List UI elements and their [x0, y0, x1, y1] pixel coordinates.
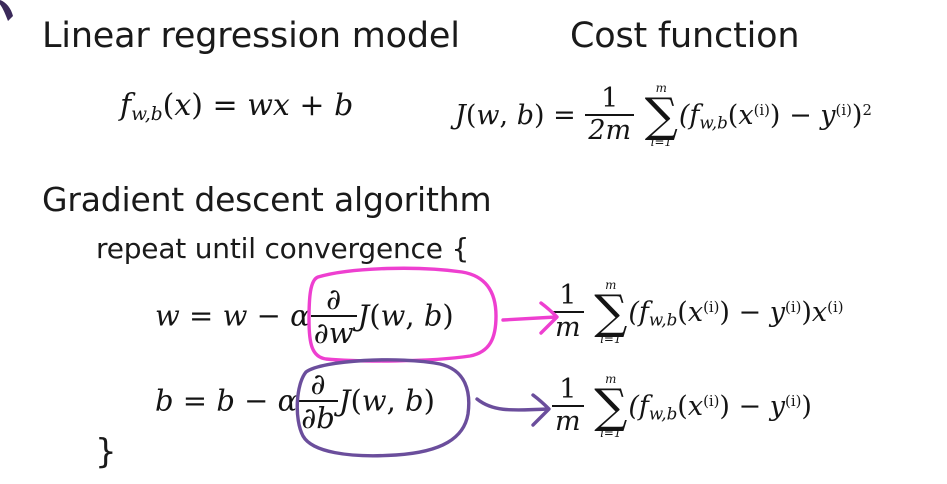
update-w-paren-open: (: [369, 298, 380, 332]
cost-sum-glyph: ∑: [645, 95, 678, 137]
cost-paren-close: ): [534, 100, 545, 131]
update-w-minus: −: [257, 298, 281, 332]
update-w-rhs-summation: m ∑ i=1: [594, 280, 627, 345]
cost-f: f: [689, 100, 699, 131]
cost-f-subscript: w,b: [699, 113, 727, 133]
cost-minus: −: [789, 100, 812, 131]
formula-cost: J(w, b) = 1 2m m ∑ i=1 (fw,b(x(i)) − y(i…: [455, 84, 872, 149]
update-b-b: b: [216, 383, 235, 417]
model-w: w: [247, 88, 273, 123]
cost-b: b: [517, 100, 534, 131]
update-w-jw: w: [381, 298, 406, 332]
update-w-rhs-inner-paren-open: (: [677, 297, 688, 328]
update-b-alpha: α: [278, 383, 298, 417]
update-b-equals: =: [183, 383, 207, 417]
corner-arc-mark: [0, 0, 13, 21]
model-paren-close: ): [191, 88, 203, 123]
update-b-rhs-y: y: [770, 391, 785, 422]
cost-power: 2: [862, 101, 871, 119]
cost-paren-open: (: [466, 100, 477, 131]
cost-x: x: [738, 100, 753, 131]
update-b-jw: w: [362, 383, 387, 417]
slide-canvas: Linear regression model Cost function Gr…: [0, 0, 947, 484]
purple-arrow: [477, 399, 548, 410]
update-b-J: J: [339, 383, 351, 417]
update-w-rhs-x: x: [688, 297, 703, 328]
update-w-w: w: [223, 298, 248, 332]
formula-update-w-left: w = w − α ∂ ∂w J(w, b): [155, 285, 454, 350]
update-b-paren-open: (: [350, 383, 361, 417]
update-w-rhs-f-subscript: w,b: [649, 310, 677, 330]
update-b-rhs-y-superscript: (i): [785, 392, 801, 410]
update-b-rhs-lparen: (: [628, 391, 639, 422]
update-w-lhs: w: [155, 298, 180, 332]
update-w-rhs-lparen: (: [628, 297, 639, 328]
model-equals: =: [213, 88, 238, 123]
update-w-rhs-trailing-x: x: [812, 297, 827, 328]
update-w-partial-fraction: ∂ ∂w: [311, 284, 357, 349]
heading-gradient-descent-algorithm: Gradient descent algorithm: [42, 180, 491, 219]
closing-brace: }: [95, 432, 116, 472]
model-x: x: [174, 88, 191, 123]
update-b-rhs-x-superscript: (i): [703, 392, 719, 410]
cost-J: J: [455, 100, 466, 131]
update-b-jb: b: [405, 383, 424, 417]
update-w-rhs-minus: −: [739, 297, 762, 328]
update-w-partial-denominator: ∂w: [311, 317, 357, 348]
update-b-rhs-fraction-numerator: 1: [552, 376, 584, 407]
update-b-partial-numerator: ∂: [298, 369, 338, 402]
update-w-rhs-f: f: [639, 297, 649, 328]
cost-fraction-numerator: 1: [585, 85, 634, 116]
update-b-rhs-rparen: ): [801, 391, 812, 422]
update-b-minus: −: [244, 383, 268, 417]
update-w-rhs-fraction-numerator: 1: [552, 282, 584, 313]
update-b-rhs-inner-paren-open: (: [677, 391, 688, 422]
cost-fraction: 1 2m: [585, 85, 634, 146]
update-w-rhs-fraction: 1 m: [552, 282, 584, 343]
update-w-paren-close: ): [442, 298, 453, 332]
update-b-rhs-summation: m ∑ i=1: [594, 374, 627, 439]
heading-cost-function: Cost function: [570, 16, 799, 56]
cost-summation: m ∑ i=1: [645, 83, 678, 148]
model-paren-open: (: [163, 88, 175, 123]
pink-arrow: [503, 317, 556, 320]
update-w-rhs-trailing-x-superscript: (i): [827, 298, 843, 316]
cost-x-superscript: (i): [754, 101, 770, 119]
purple-arrow-head: [533, 395, 549, 425]
cost-rparen: ): [852, 100, 863, 131]
update-b-comma: ,: [387, 383, 396, 417]
model-f: f: [120, 88, 131, 123]
update-b-rhs-f-subscript: w,b: [649, 404, 677, 424]
formula-model: fw,b(x) = wx + b: [120, 88, 353, 125]
formula-update-w-right: 1 m m ∑ i=1 (fw,b(x(i)) − y(i))x(i): [551, 281, 844, 346]
cost-lparen: (: [679, 100, 690, 131]
update-b-rhs-minus: −: [739, 391, 762, 422]
update-w-rhs-y: y: [770, 297, 785, 328]
update-b-lhs: b: [155, 383, 174, 417]
model-plus: +: [299, 88, 324, 123]
update-w-comma: ,: [405, 298, 414, 332]
update-b-rhs-fraction-denominator: m: [552, 407, 584, 436]
update-b-rhs-f: f: [639, 391, 649, 422]
update-w-rhs-x-superscript: (i): [703, 298, 719, 316]
cost-y: y: [820, 100, 835, 131]
cost-inner-paren-open: (: [728, 100, 739, 131]
formula-update-b-right: 1 m m ∑ i=1 (fw,b(x(i)) − y(i)): [551, 375, 812, 440]
cost-w: w: [476, 100, 499, 131]
repeat-until-convergence-line: repeat until convergence {: [96, 232, 469, 265]
update-b-rhs-inner-paren-close: ): [719, 391, 730, 422]
cost-fraction-denominator: 2m: [585, 116, 634, 145]
formula-update-b-left: b = b − α ∂ ∂b J(w, b): [155, 370, 435, 435]
update-w-rhs-inner-paren-close: ): [719, 297, 730, 328]
model-f-subscript: w,b: [131, 104, 163, 125]
cost-y-superscript: (i): [836, 101, 852, 119]
update-w-jb: b: [424, 298, 443, 332]
update-w-equals: =: [189, 298, 213, 332]
model-x2: x: [273, 88, 290, 123]
update-b-partial-denominator: ∂b: [298, 402, 338, 433]
update-b-paren-close: ): [424, 383, 435, 417]
update-b-rhs-x: x: [688, 391, 703, 422]
model-b: b: [334, 88, 353, 123]
update-b-partial-fraction: ∂ ∂b: [298, 369, 338, 434]
update-w-alpha: α: [290, 298, 310, 332]
update-w-rhs-fraction-denominator: m: [552, 313, 584, 342]
update-b-rhs-fraction: 1 m: [552, 376, 584, 437]
update-w-rhs-sum-glyph: ∑: [594, 292, 627, 334]
cost-comma: ,: [500, 100, 509, 131]
update-w-rhs-rparen: ): [801, 297, 812, 328]
cost-equals: =: [553, 100, 576, 131]
update-w-J: J: [358, 298, 370, 332]
heading-linear-regression-model: Linear regression model: [42, 16, 460, 56]
update-w-rhs-y-superscript: (i): [785, 298, 801, 316]
update-w-partial-numerator: ∂: [311, 284, 357, 317]
update-b-rhs-sum-glyph: ∑: [594, 386, 627, 428]
cost-inner-paren-close: ): [770, 100, 781, 131]
